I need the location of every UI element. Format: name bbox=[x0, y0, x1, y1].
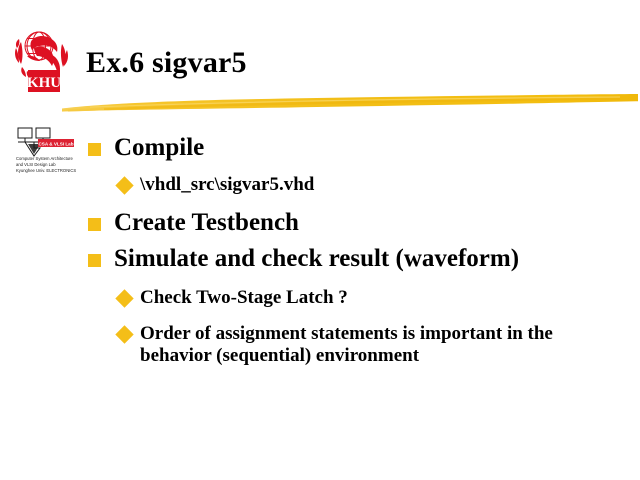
bullet-text: Simulate and check result (waveform) bbox=[114, 245, 519, 272]
lab-logo-icon: CSA & VLSI Lab Computer System Architect… bbox=[14, 124, 78, 180]
lab-logo-caption-line3: Kyunghee Univ. ELECTRONICS bbox=[16, 168, 76, 173]
bullet-text: Order of assignment statements is import… bbox=[140, 323, 626, 368]
diamond-bullet-icon bbox=[115, 325, 133, 343]
bullet-text: \vhdl_src\sigvar5.vhd bbox=[140, 174, 626, 196]
spacer bbox=[86, 275, 626, 283]
spacer bbox=[86, 164, 626, 170]
khu-crest-icon: KHU bbox=[12, 26, 74, 94]
square-bullet-icon bbox=[88, 143, 101, 156]
spacer bbox=[86, 199, 626, 209]
brush-stroke-icon bbox=[60, 88, 640, 120]
diamond-bullet-icon bbox=[115, 176, 133, 194]
bullet-level2-vhdl-path: \vhdl_src\sigvar5.vhd bbox=[86, 174, 626, 196]
bullet-text: Compile bbox=[114, 134, 204, 161]
square-bullet-icon bbox=[88, 254, 101, 267]
slide-body-outline: Compile \vhdl_src\sigvar5.vhd Create Tes… bbox=[86, 134, 626, 371]
bullet-level2-check-latch: Check Two-Stage Latch ? bbox=[86, 287, 626, 309]
khu-wordmark: KHU bbox=[27, 75, 61, 91]
diamond-bullet-icon bbox=[115, 290, 133, 308]
bullet-level2-order-of-assignment: Order of assignment statements is import… bbox=[86, 323, 626, 368]
presentation-slide: KHU CSA & VLSI Lab Computer System Archi… bbox=[0, 0, 640, 480]
bullet-level1-create-testbench: Create Testbench bbox=[86, 209, 626, 237]
lab-logo: CSA & VLSI Lab Computer System Architect… bbox=[14, 124, 78, 180]
brush-stroke-divider bbox=[60, 88, 640, 120]
spacer bbox=[86, 313, 626, 319]
lab-logo-caption-line1: Computer System Architecture bbox=[16, 156, 73, 161]
square-bullet-icon bbox=[88, 218, 101, 231]
bullet-level1-simulate-check: Simulate and check result (waveform) bbox=[86, 245, 626, 273]
khu-university-crest-logo: KHU bbox=[12, 26, 74, 94]
lab-logo-badge-text: CSA & VLSI Lab bbox=[38, 141, 73, 146]
bullet-level1-compile: Compile bbox=[86, 134, 626, 162]
slide-title: Ex.6 sigvar5 bbox=[86, 47, 247, 79]
bullet-text: Create Testbench bbox=[114, 209, 299, 236]
bullet-text: Check Two-Stage Latch ? bbox=[140, 287, 626, 309]
lab-logo-caption-line2: and VLSI Design Lab bbox=[16, 162, 56, 167]
